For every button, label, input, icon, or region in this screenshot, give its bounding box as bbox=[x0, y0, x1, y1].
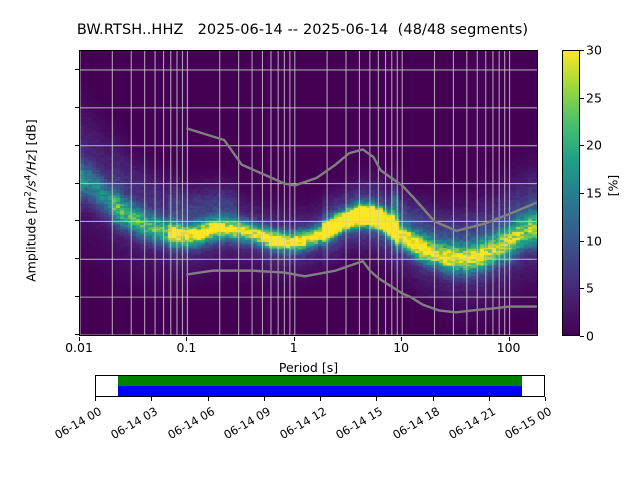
x-tick-label: 0.01 bbox=[65, 340, 93, 355]
colorbar-tick-label: 30 bbox=[586, 43, 602, 58]
timeline-tick-mark bbox=[489, 397, 490, 401]
timeline-tick-label: 06-14 15 bbox=[330, 404, 385, 444]
figure-title: BW.RTSH..HHZ 2025-06-14 -- 2025-06-14 (4… bbox=[0, 22, 605, 38]
timeline-tick-label: 06-14 03 bbox=[105, 404, 160, 444]
y-tick-mark bbox=[75, 69, 79, 70]
colorbar-tick-mark bbox=[580, 336, 584, 337]
coverage-band bbox=[118, 376, 522, 396]
colorbar bbox=[562, 50, 580, 336]
timeline-tick-mark bbox=[95, 397, 96, 401]
timeline-tick-label: 06-14 06 bbox=[161, 404, 216, 444]
timeline-tick-mark bbox=[376, 397, 377, 401]
timeline-tick-mark bbox=[433, 397, 434, 401]
data-coverage-timeline bbox=[95, 375, 545, 397]
x-tick-label: 100 bbox=[497, 340, 521, 355]
timeline-tick-label: 06-14 09 bbox=[217, 404, 272, 444]
timeline-tick-mark bbox=[545, 397, 546, 401]
colorbar-label: [%] bbox=[606, 146, 621, 226]
timeline-tick-mark bbox=[208, 397, 209, 401]
colorbar-tick-label: 15 bbox=[586, 186, 602, 201]
colorbar-tick-mark bbox=[580, 288, 584, 289]
timeline-tick-label: 06-14 21 bbox=[442, 404, 497, 444]
coverage-band-top bbox=[118, 376, 522, 386]
colorbar-tick-mark bbox=[580, 145, 584, 146]
timeline-tick-label: 06-14 12 bbox=[274, 404, 329, 444]
y-tick-mark bbox=[75, 258, 79, 259]
ppsd-figure: BW.RTSH..HHZ 2025-06-14 -- 2025-06-14 (4… bbox=[0, 0, 640, 480]
colorbar-tick-label: 25 bbox=[586, 90, 602, 105]
coverage-band-bottom bbox=[118, 386, 522, 396]
timeline-tick-mark bbox=[320, 397, 321, 401]
y-tick-mark bbox=[75, 296, 79, 297]
colorbar-tick-mark bbox=[580, 241, 584, 242]
x-tick-label: 10 bbox=[393, 340, 409, 355]
colorbar-tick-mark bbox=[580, 50, 584, 51]
ppsd-plot-area bbox=[79, 50, 538, 336]
colorbar-tick-label: 10 bbox=[586, 233, 602, 248]
y-tick-mark bbox=[75, 107, 79, 108]
y-axis-label: Amplitude [m2/s4/Hz] [dB] bbox=[23, 58, 38, 344]
colorbar-tick-label: 0 bbox=[586, 329, 594, 344]
y-tick-mark bbox=[75, 145, 79, 146]
timeline-tick-mark bbox=[264, 397, 265, 401]
colorbar-tick-mark bbox=[580, 193, 584, 194]
noise-model-curves bbox=[80, 51, 537, 335]
timeline-tick-label: 06-14 18 bbox=[386, 404, 441, 444]
y-tick-mark bbox=[75, 334, 79, 335]
y-tick-mark bbox=[75, 183, 79, 184]
colorbar-tick-label: 5 bbox=[586, 281, 594, 296]
x-axis-label: Period [s] bbox=[79, 360, 538, 375]
colorbar-tick-mark bbox=[580, 98, 584, 99]
timeline-tick-label: 06-14 00 bbox=[49, 404, 104, 444]
timeline-tick-mark bbox=[151, 397, 152, 401]
x-tick-label: 0.1 bbox=[176, 340, 196, 355]
y-tick-mark bbox=[75, 220, 79, 221]
colorbar-tick-label: 20 bbox=[586, 138, 602, 153]
timeline-tick-label: 06-15 00 bbox=[499, 404, 554, 444]
x-tick-label: 1 bbox=[290, 340, 298, 355]
